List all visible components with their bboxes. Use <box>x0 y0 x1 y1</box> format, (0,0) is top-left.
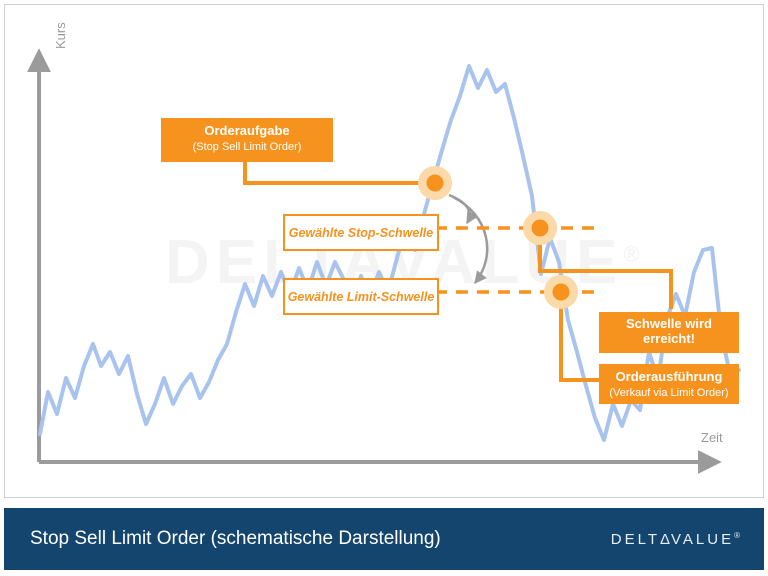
label-stop-threshold-text: Gewählte Stop-Schwelle <box>289 226 433 240</box>
label-limit-threshold: Gewählte Limit-Schwelle <box>283 278 439 315</box>
callout-order-entry: Orderaufgabe (Stop Sell Limit Order) <box>161 118 333 162</box>
footer-title: Stop Sell Limit Order (schematische Dars… <box>30 528 441 550</box>
chart-canvas: DELTAVALUE® <box>4 4 764 498</box>
x-axis-label: Zeit <box>701 430 723 445</box>
infographic-root: DELTAVALUE® <box>0 0 768 576</box>
deltavalue-logo: DELTΔVALUE® <box>611 531 740 548</box>
chart-plot <box>5 5 763 497</box>
y-axis-label: Kurs <box>53 22 68 49</box>
callout-order-entry-title: Orderaufgabe <box>171 124 323 139</box>
callout-order-execution-subtitle: (Verkauf via Limit Order) <box>609 387 729 400</box>
logo-registered-mark: ® <box>734 531 740 540</box>
callout-order-execution-title: Orderausführung <box>609 370 729 385</box>
logo-text-part2: VALUE <box>671 531 734 548</box>
arrow-to-limit-threshold <box>453 197 487 283</box>
marker-stop-trigger <box>523 211 557 245</box>
logo-text-part1: DELT <box>611 531 660 548</box>
marker-limit-fill <box>544 275 578 309</box>
footer-bar: Stop Sell Limit Order (schematische Dars… <box>4 508 764 570</box>
callout-order-execution: Orderausführung (Verkauf via Limit Order… <box>599 364 739 404</box>
label-stop-threshold: Gewählte Stop-Schwelle <box>283 214 439 251</box>
label-limit-threshold-text: Gewählte Limit-Schwelle <box>288 290 435 304</box>
callout-threshold-reached-title: Schwelle wird erreicht! <box>609 317 729 347</box>
callout-order-entry-subtitle: (Stop Sell Limit Order) <box>171 141 323 154</box>
callout-threshold-reached: Schwelle wird erreicht! <box>599 312 739 353</box>
logo-delta-glyph: Δ <box>660 531 671 548</box>
marker-order-placement <box>418 166 452 200</box>
